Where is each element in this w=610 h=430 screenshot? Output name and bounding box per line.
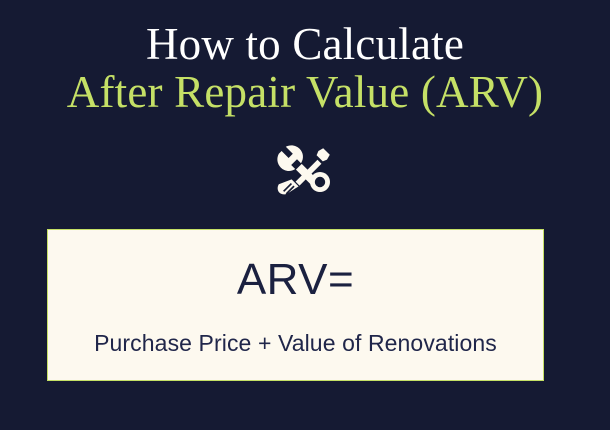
- formula-definition: Purchase Price + Value of Renovations: [94, 332, 497, 355]
- title-line-primary: How to Calculate: [0, 22, 610, 68]
- arv-infographic-poster: How to Calculate After Repair Value (ARV…: [0, 0, 610, 430]
- formula-expression: ARV=: [237, 258, 354, 302]
- title-line-accent: After Repair Value (ARV): [0, 70, 610, 116]
- formula-card: ARV= Purchase Price + Value of Renovatio…: [47, 229, 544, 381]
- wrench-and-screwdriver-icon: [271, 139, 339, 207]
- page-title: How to Calculate After Repair Value (ARV…: [0, 22, 610, 116]
